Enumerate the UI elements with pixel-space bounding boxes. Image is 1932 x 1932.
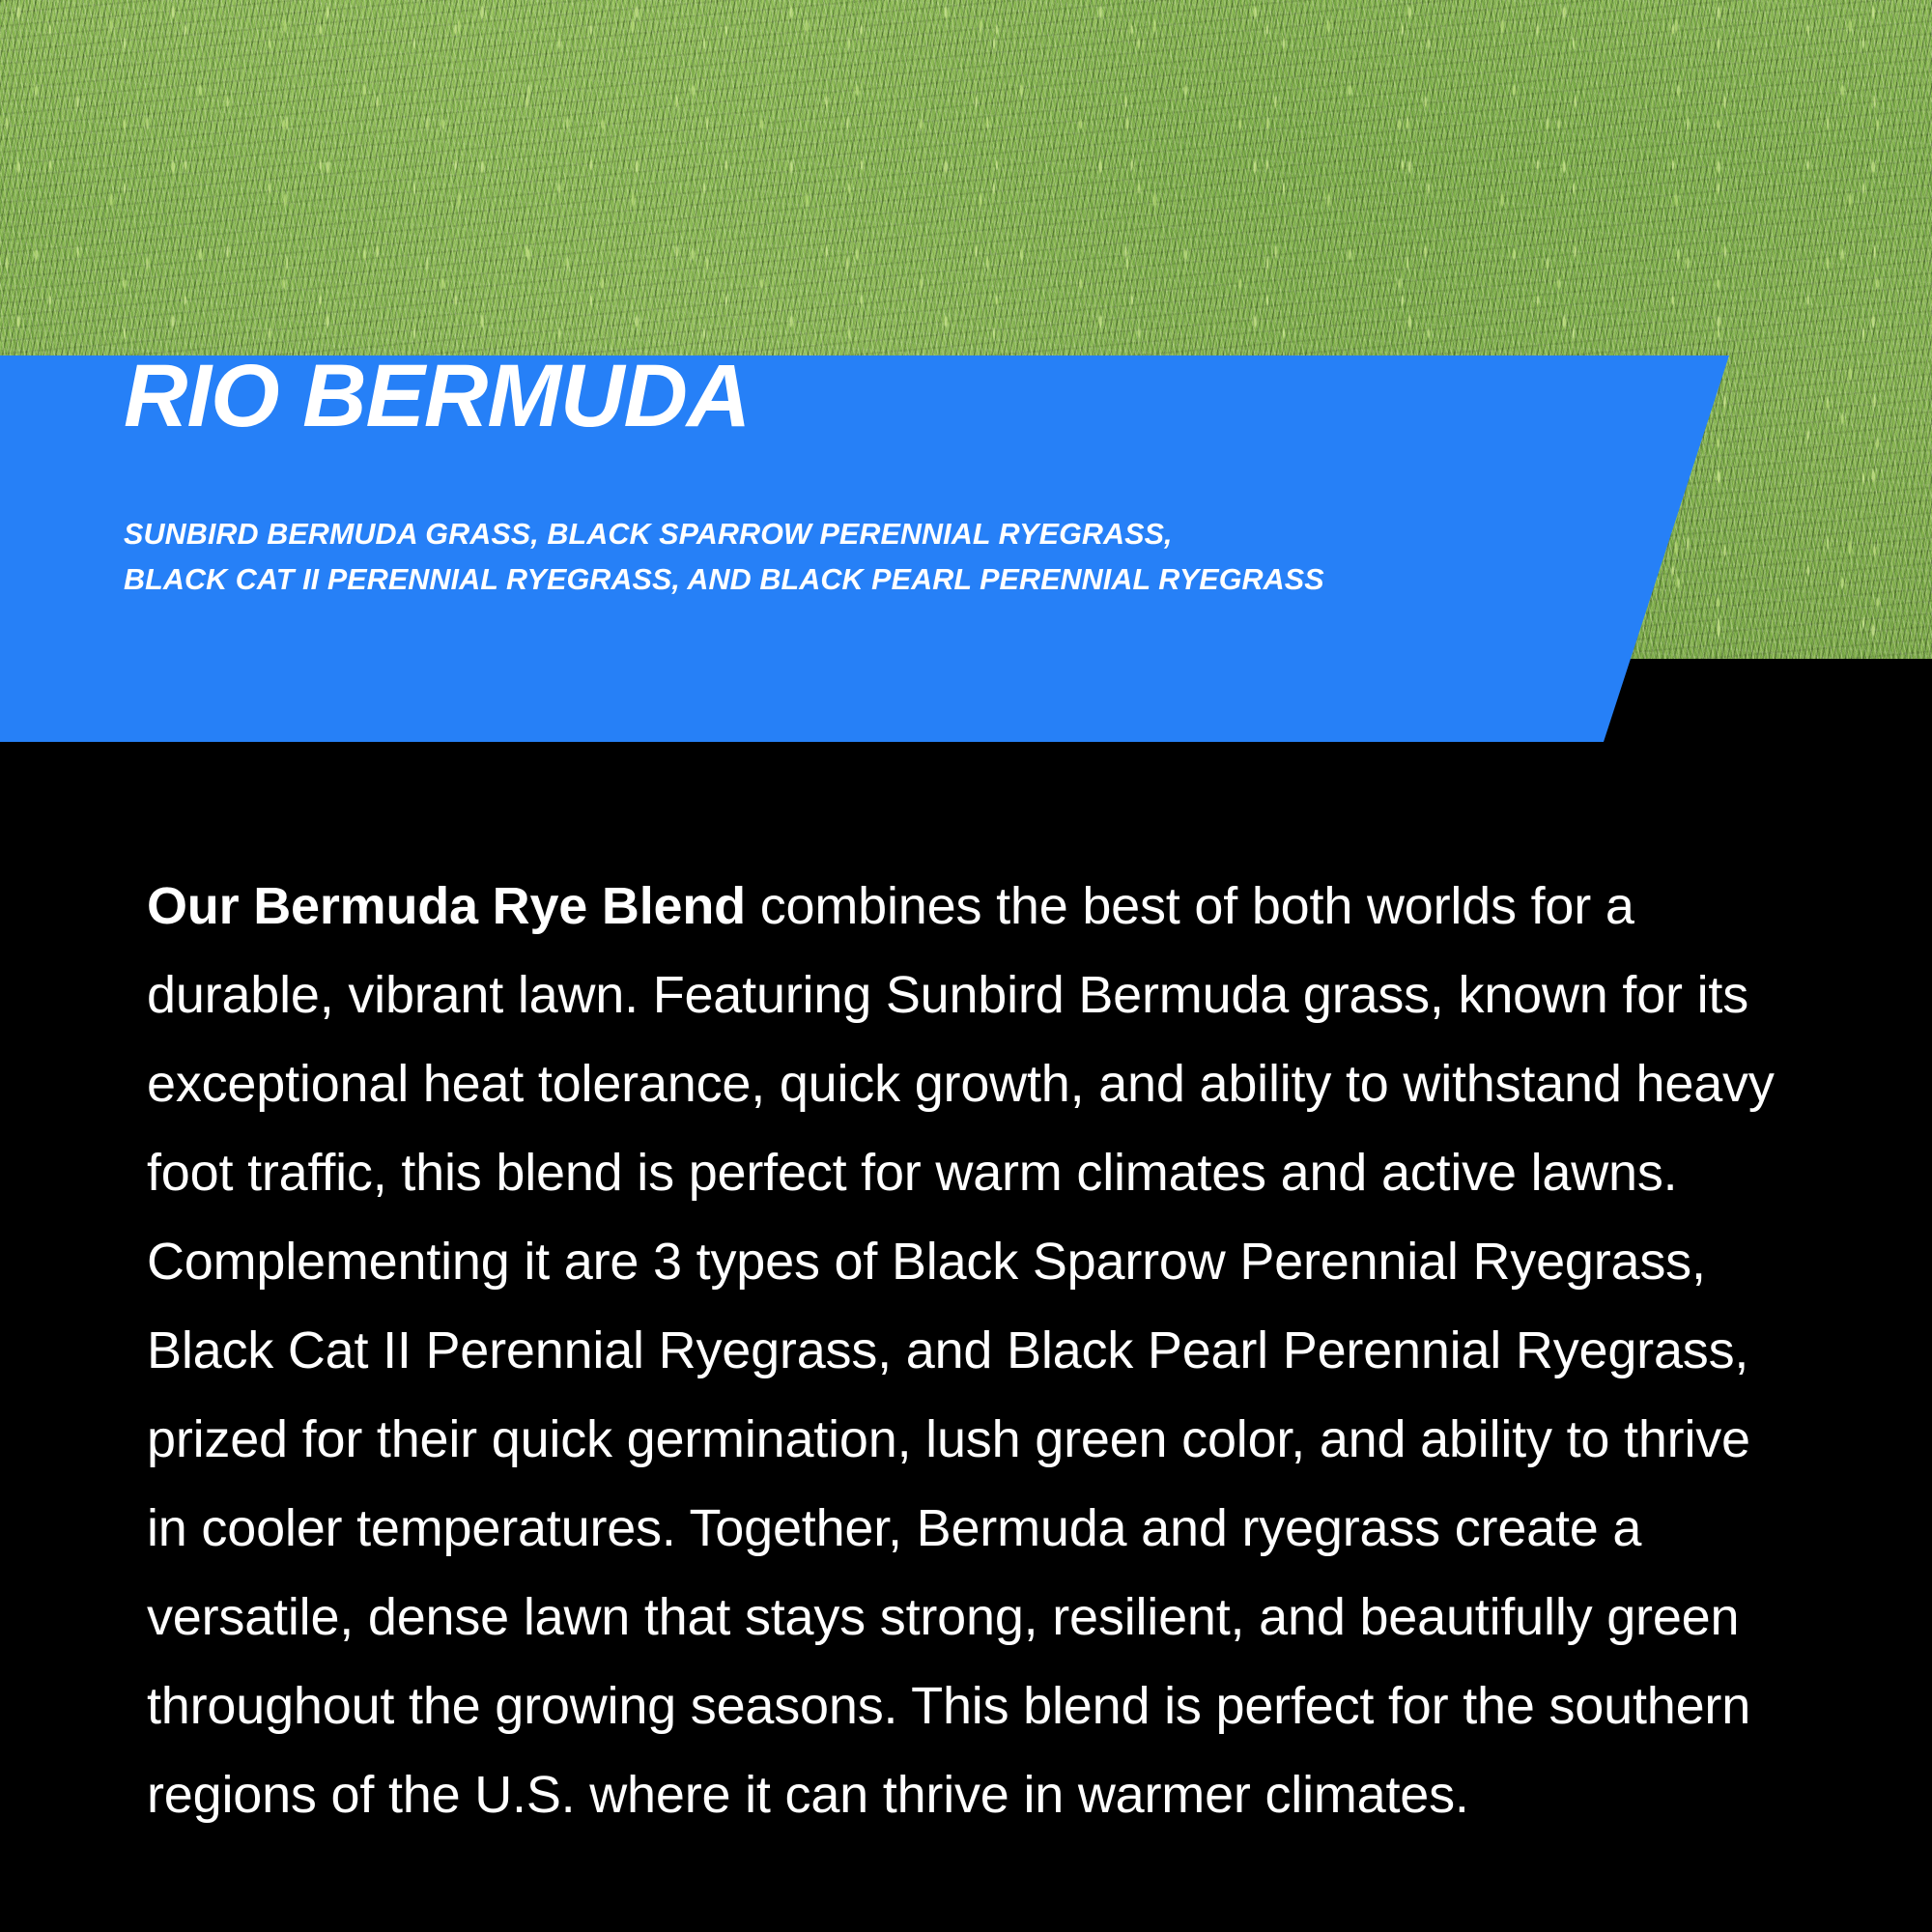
description-body: combines the best of both worlds for a d… xyxy=(147,877,1775,1824)
cultivar-subtitle: SUNBIRD BERMUDA GRASS, BLACK SPARROW PER… xyxy=(124,512,1324,603)
title-banner-content: RIO BERMUDA SUNBIRD BERMUDA GRASS, BLACK… xyxy=(0,355,1739,742)
product-info-card: RIO BERMUDA SUNBIRD BERMUDA GRASS, BLACK… xyxy=(0,0,1932,1932)
page-title: RIO BERMUDA xyxy=(124,352,750,440)
description-lead: Our Bermuda Rye Blend xyxy=(147,877,746,935)
subtitle-line-1: SUNBIRD BERMUDA GRASS, BLACK SPARROW PER… xyxy=(124,512,1324,557)
title-banner: RIO BERMUDA SUNBIRD BERMUDA GRASS, BLACK… xyxy=(0,355,1739,742)
description-paragraph: Our Bermuda Rye Blend combines the best … xyxy=(147,862,1789,1839)
subtitle-line-2: BLACK CAT II PERENNIAL RYEGRASS, AND BLA… xyxy=(124,557,1324,603)
